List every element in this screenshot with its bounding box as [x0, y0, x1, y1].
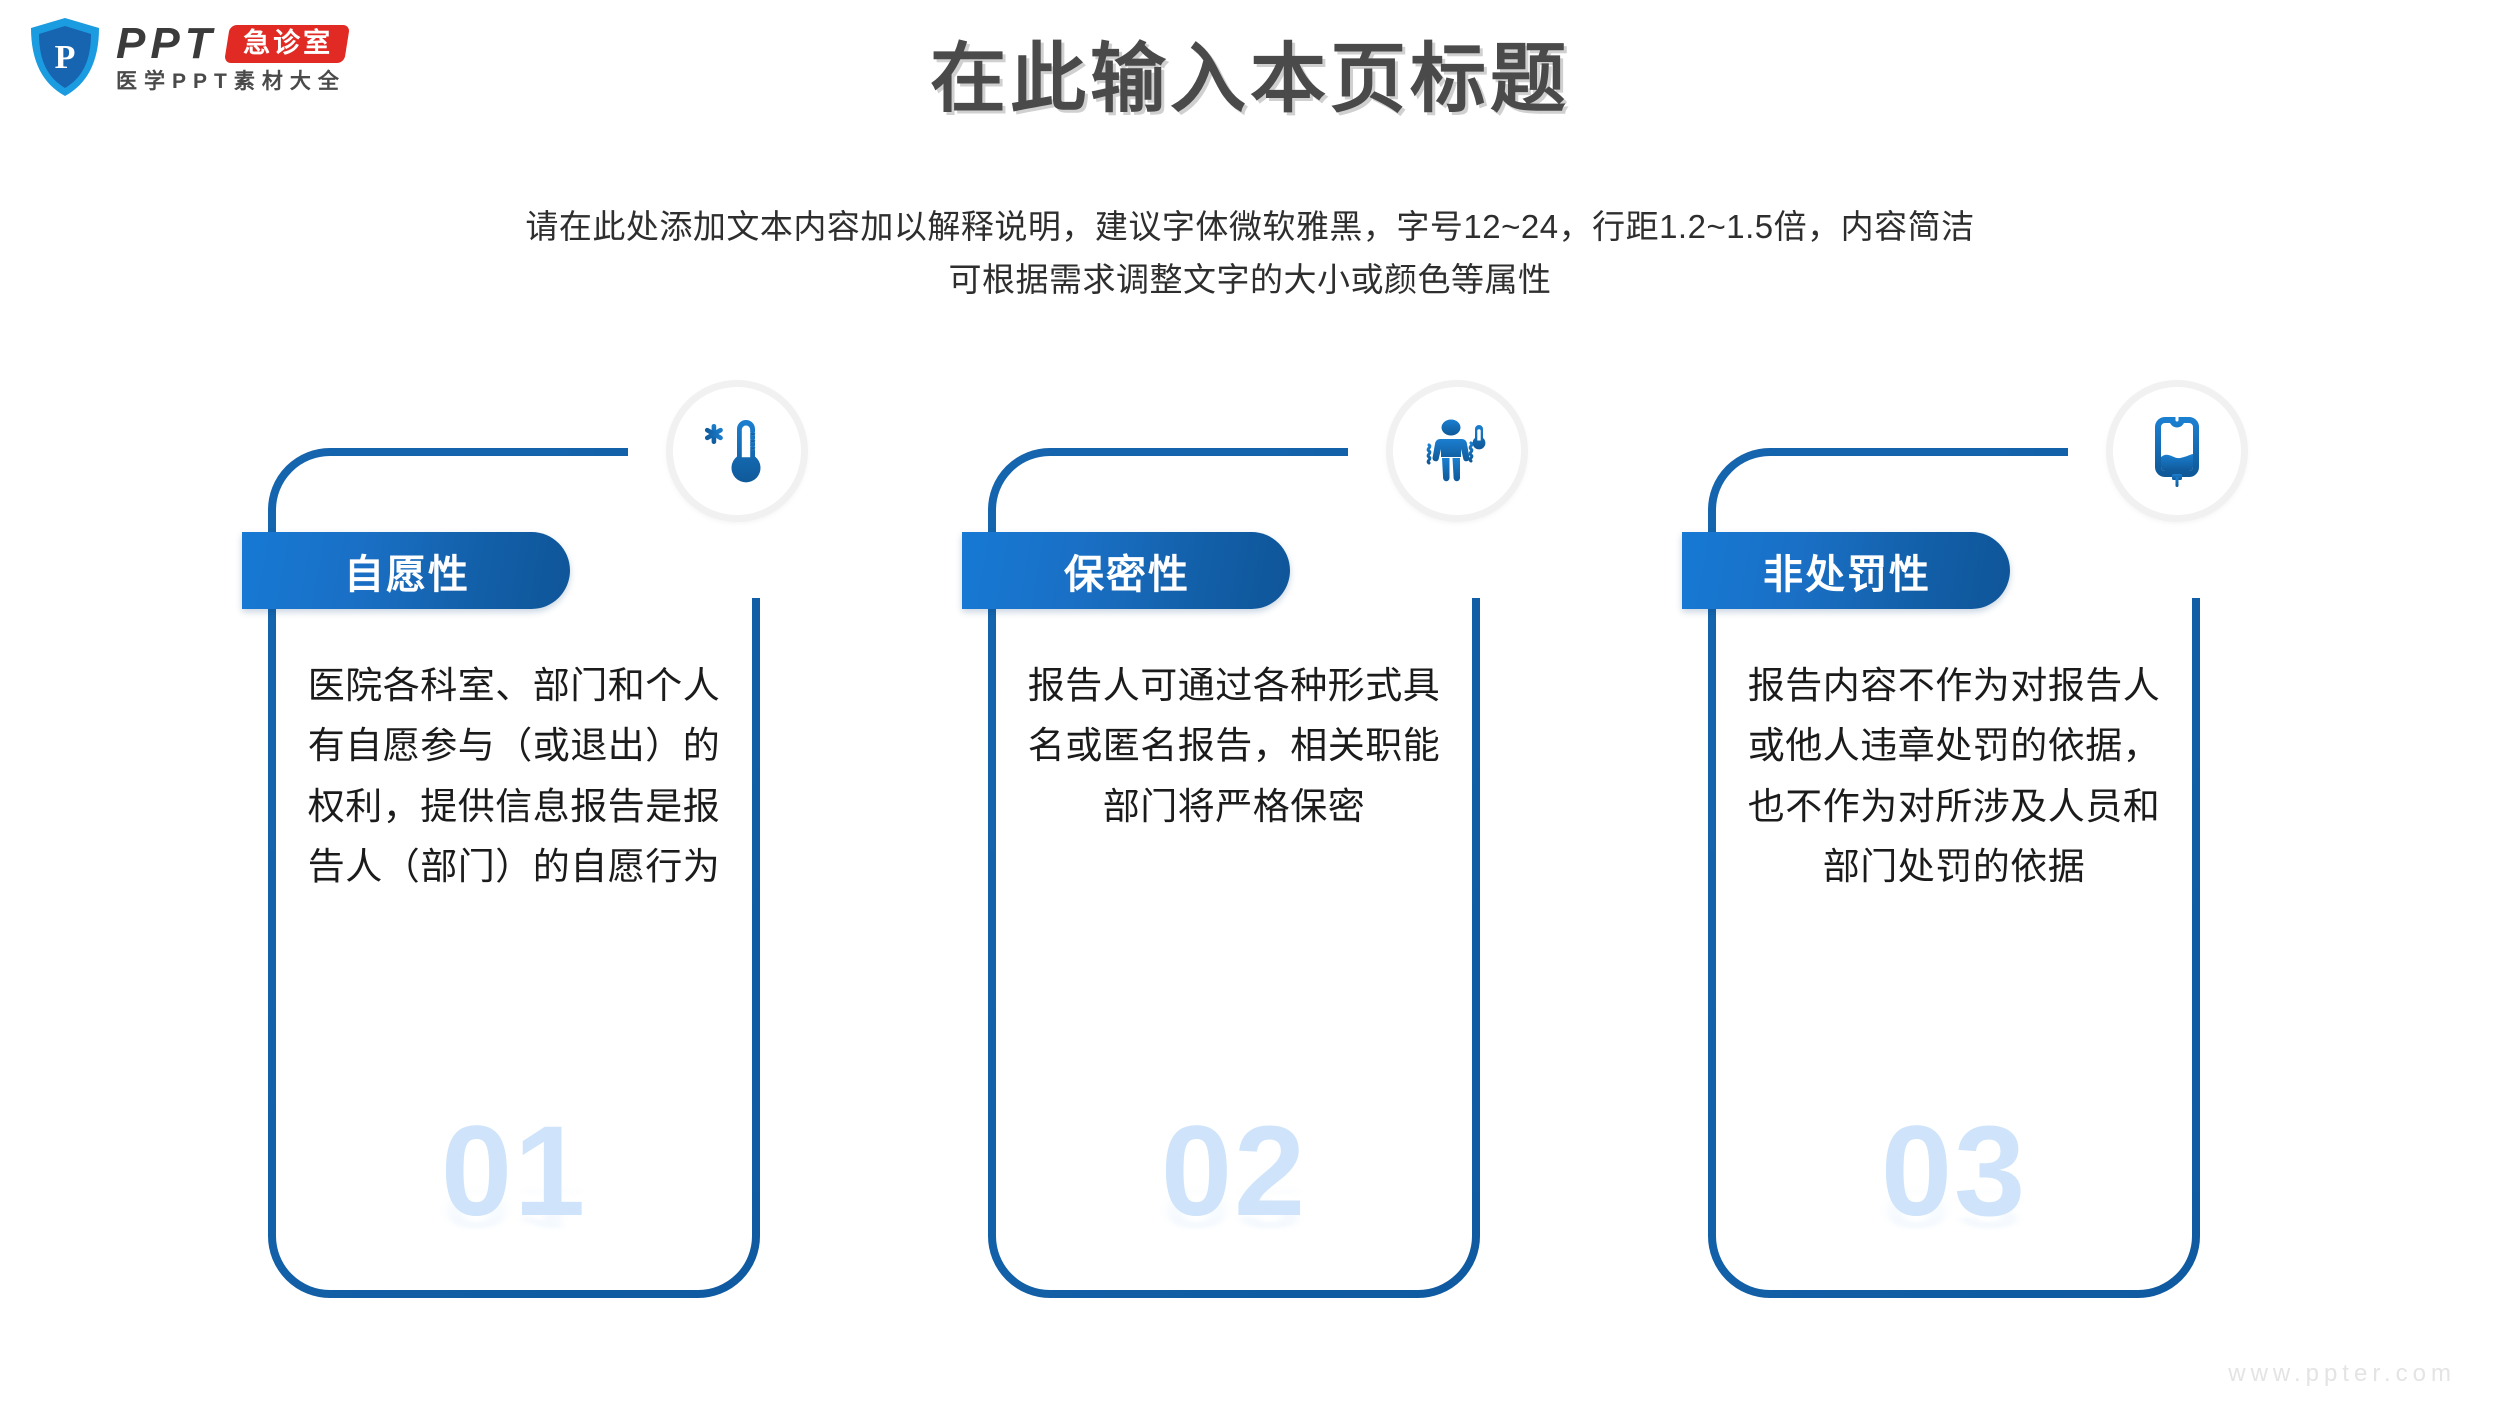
card-badge-label: 自愿性 — [344, 542, 470, 600]
card-number-reflection: 01 — [268, 1178, 760, 1236]
person-fever-chills-icon — [1386, 380, 1528, 522]
card-list: 01 01 自愿性 医院各科室、部门和个人有自愿参与（或退出）的权利，提供信息报… — [0, 0, 2500, 1406]
feature-card[interactable]: 03 03 非处罚性 报告内容不作为对报告人或他人违章处罚的依据，也不作为对所涉… — [1708, 448, 2200, 1298]
card-body-text: 报告人可通过各种形式具名或匿名报告，相关职能部门将严格保密 — [1022, 656, 1446, 837]
card-badge: 保密性 — [962, 532, 1290, 609]
card-badge-label: 非处罚性 — [1763, 542, 1931, 600]
footer-watermark-url: www.ppter.com — [2228, 1360, 2456, 1388]
thermometer-cold-icon — [666, 380, 808, 522]
iv-bag-icon — [2106, 380, 2248, 522]
card-body-text: 报告内容不作为对报告人或他人违章处罚的依据，也不作为对所涉及人员和部门处罚的依据 — [1742, 656, 2166, 897]
card-badge: 非处罚性 — [1682, 532, 2010, 609]
card-number-reflection: 02 — [988, 1178, 1480, 1236]
card-badge-label: 保密性 — [1064, 542, 1190, 600]
card-badge: 自愿性 — [242, 532, 570, 609]
feature-card[interactable]: 01 01 自愿性 医院各科室、部门和个人有自愿参与（或退出）的权利，提供信息报… — [268, 448, 760, 1298]
card-body-text: 医院各科室、部门和个人有自愿参与（或退出）的权利，提供信息报告是报告人（部门）的… — [302, 656, 726, 897]
feature-card[interactable]: 02 02 保密性 报告人可通过各种形式具名或匿名报告，相关职能部门将严格保密 — [988, 448, 1480, 1298]
card-number-reflection: 03 — [1708, 1178, 2200, 1236]
